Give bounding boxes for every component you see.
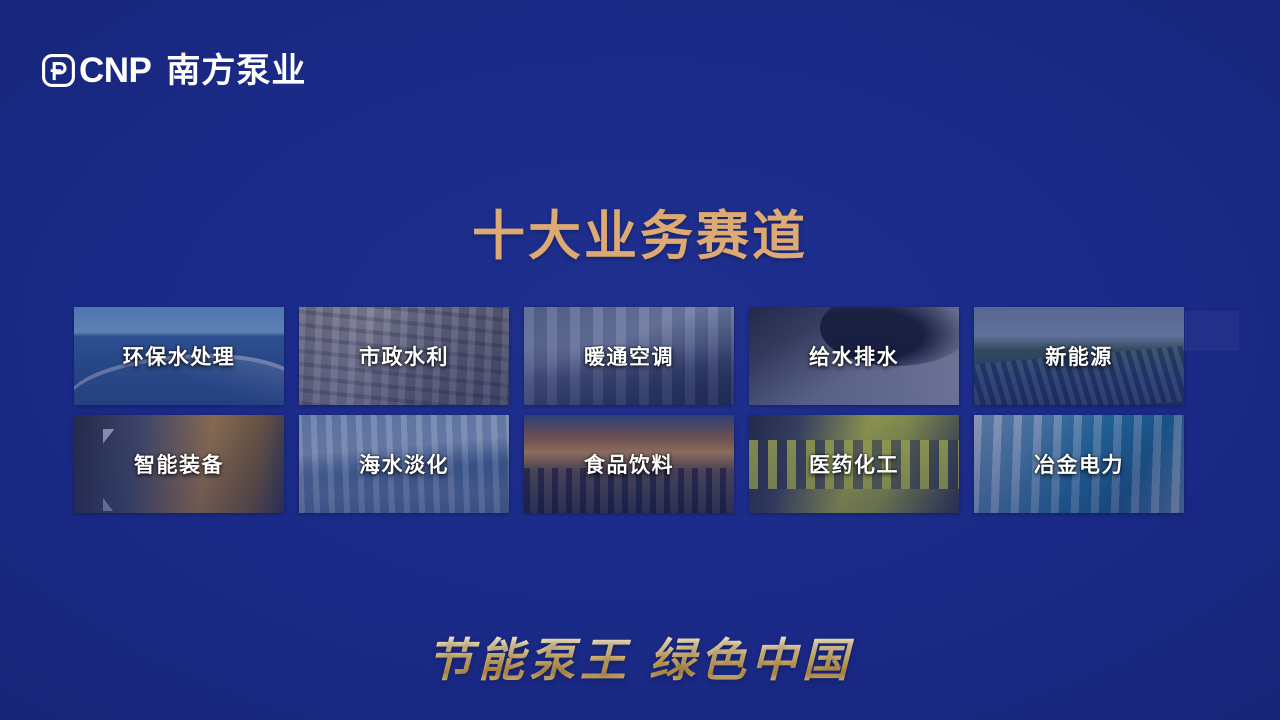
business-card-1[interactable]: 环保水处理 — [74, 307, 284, 405]
brand-logo: CNP 南方泵业 — [42, 53, 306, 88]
business-card-9[interactable]: 医药化工 — [749, 415, 959, 513]
background-highlight-artifact — [1185, 311, 1239, 351]
business-track-grid: 环保水处理 市政水利 暖通空调 给水排水 新能源 智能装备 — [74, 307, 1186, 513]
cnp-pump-logo-icon — [42, 54, 75, 87]
business-card-label: 市政水利 — [299, 307, 509, 405]
slogan-part-1: 节能泵王 — [427, 635, 631, 686]
business-card-label: 冶金电力 — [974, 415, 1184, 513]
slogan-part-2: 绿色中国 — [649, 635, 853, 686]
business-card-label: 暖通空调 — [524, 307, 734, 405]
business-card-7[interactable]: 海水淡化 — [299, 415, 509, 513]
business-card-2[interactable]: 市政水利 — [299, 307, 509, 405]
brand-slogan: 节能泵王绿色中国 — [0, 636, 1280, 687]
business-card-5[interactable]: 新能源 — [974, 307, 1184, 405]
brand-chinese-name: 南方泵业 — [166, 54, 306, 88]
presentation-slide: CNP 南方泵业 十大业务赛道 环保水处理 市政水利 暖通空调 给水排水 — [0, 0, 1280, 720]
business-card-label: 环保水处理 — [74, 307, 284, 405]
brand-latin-name: CNP — [79, 53, 151, 88]
business-card-label: 给水排水 — [749, 307, 959, 405]
business-card-10[interactable]: 冶金电力 — [974, 415, 1184, 513]
business-card-6[interactable]: 智能装备 — [74, 415, 284, 513]
business-card-8[interactable]: 食品饮料 — [524, 415, 734, 513]
business-card-4[interactable]: 给水排水 — [749, 307, 959, 405]
business-card-3[interactable]: 暖通空调 — [524, 307, 734, 405]
business-card-label: 智能装备 — [74, 415, 284, 513]
page-title: 十大业务赛道 — [0, 205, 1280, 269]
business-card-label: 海水淡化 — [299, 415, 509, 513]
business-card-label: 新能源 — [974, 307, 1184, 405]
business-card-label: 食品饮料 — [524, 415, 734, 513]
business-card-label: 医药化工 — [749, 415, 959, 513]
